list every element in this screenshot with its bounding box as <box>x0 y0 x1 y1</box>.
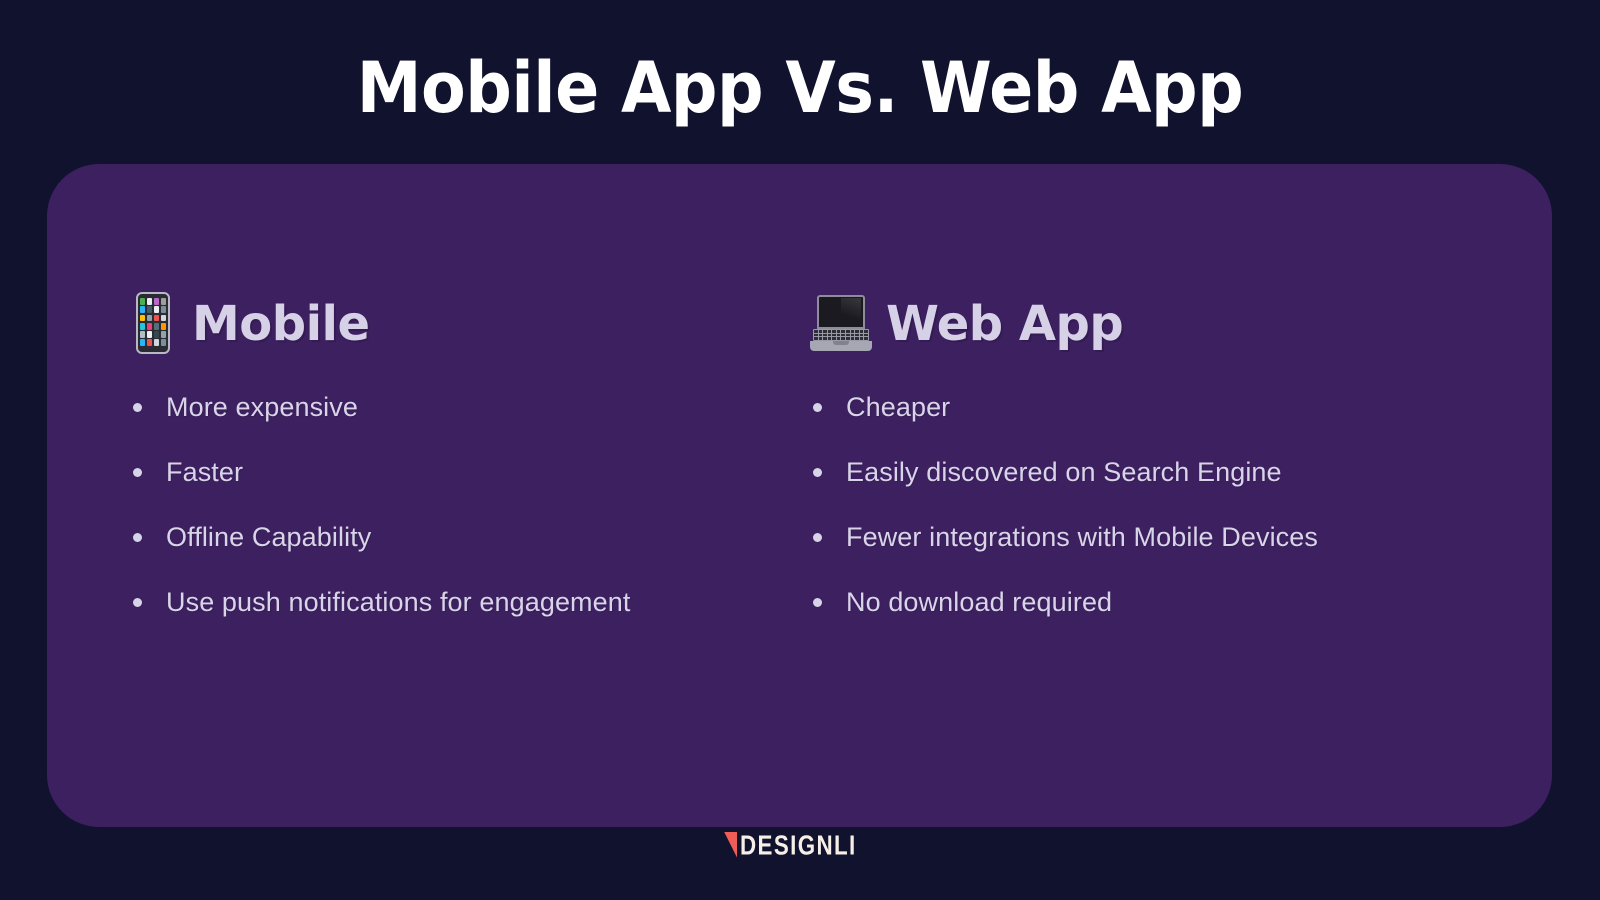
list-item-label: Easily discovered on Search Engine <box>846 455 1282 489</box>
comparison-card: Mobile More expensive Faster Offline Cap… <box>47 164 1552 827</box>
bullet-dot-icon <box>813 468 822 477</box>
bullet-dot-icon <box>813 533 822 542</box>
designli-triangle-mark-icon <box>724 832 737 858</box>
laptop-icon <box>810 295 872 353</box>
footer: DESIGNLI <box>0 832 1600 858</box>
list-item-label: Faster <box>166 455 243 489</box>
bullet-dot-icon <box>813 598 822 607</box>
list-item: Easily discovered on Search Engine <box>810 455 1510 520</box>
bullet-dot-icon <box>813 403 822 412</box>
list-item-label: No download required <box>846 585 1112 619</box>
mobile-phone-icon <box>130 292 176 356</box>
list-item-label: More expensive <box>166 390 358 424</box>
bullet-dot-icon <box>133 533 142 542</box>
bullet-dot-icon <box>133 598 142 607</box>
page-title: Mobile App Vs. Web App <box>56 40 1544 136</box>
list-item: Offline Capability <box>130 520 820 585</box>
list-item: Faster <box>130 455 820 520</box>
column-web-app: Web App Cheaper Easily discovered on Sea… <box>810 288 1510 650</box>
list-item-label: Fewer integrations with Mobile Devices <box>846 520 1318 554</box>
list-item: No download required <box>810 585 1510 650</box>
mobile-bullet-list: More expensive Faster Offline Capability… <box>130 390 820 650</box>
bullet-dot-icon <box>133 468 142 477</box>
list-item: Fewer integrations with Mobile Devices <box>810 520 1510 585</box>
list-item: Use push notifications for engagement <box>130 585 820 650</box>
column-mobile: Mobile More expensive Faster Offline Cap… <box>130 288 820 650</box>
column-mobile-header: Mobile <box>130 288 820 360</box>
list-item-label: Use push notifications for engagement <box>166 585 630 619</box>
list-item-label: Offline Capability <box>166 520 371 554</box>
column-web-app-title: Web App <box>886 294 1123 354</box>
column-web-app-header: Web App <box>810 288 1510 360</box>
comparison-columns: Mobile More expensive Faster Offline Cap… <box>47 164 1552 827</box>
column-mobile-title: Mobile <box>192 294 370 354</box>
designli-logo-text: DESIGNLI <box>740 831 857 858</box>
list-item: More expensive <box>130 390 820 455</box>
bullet-dot-icon <box>133 403 142 412</box>
list-item: Cheaper <box>810 390 1510 455</box>
web-app-bullet-list: Cheaper Easily discovered on Search Engi… <box>810 390 1510 650</box>
list-item-label: Cheaper <box>846 390 950 424</box>
